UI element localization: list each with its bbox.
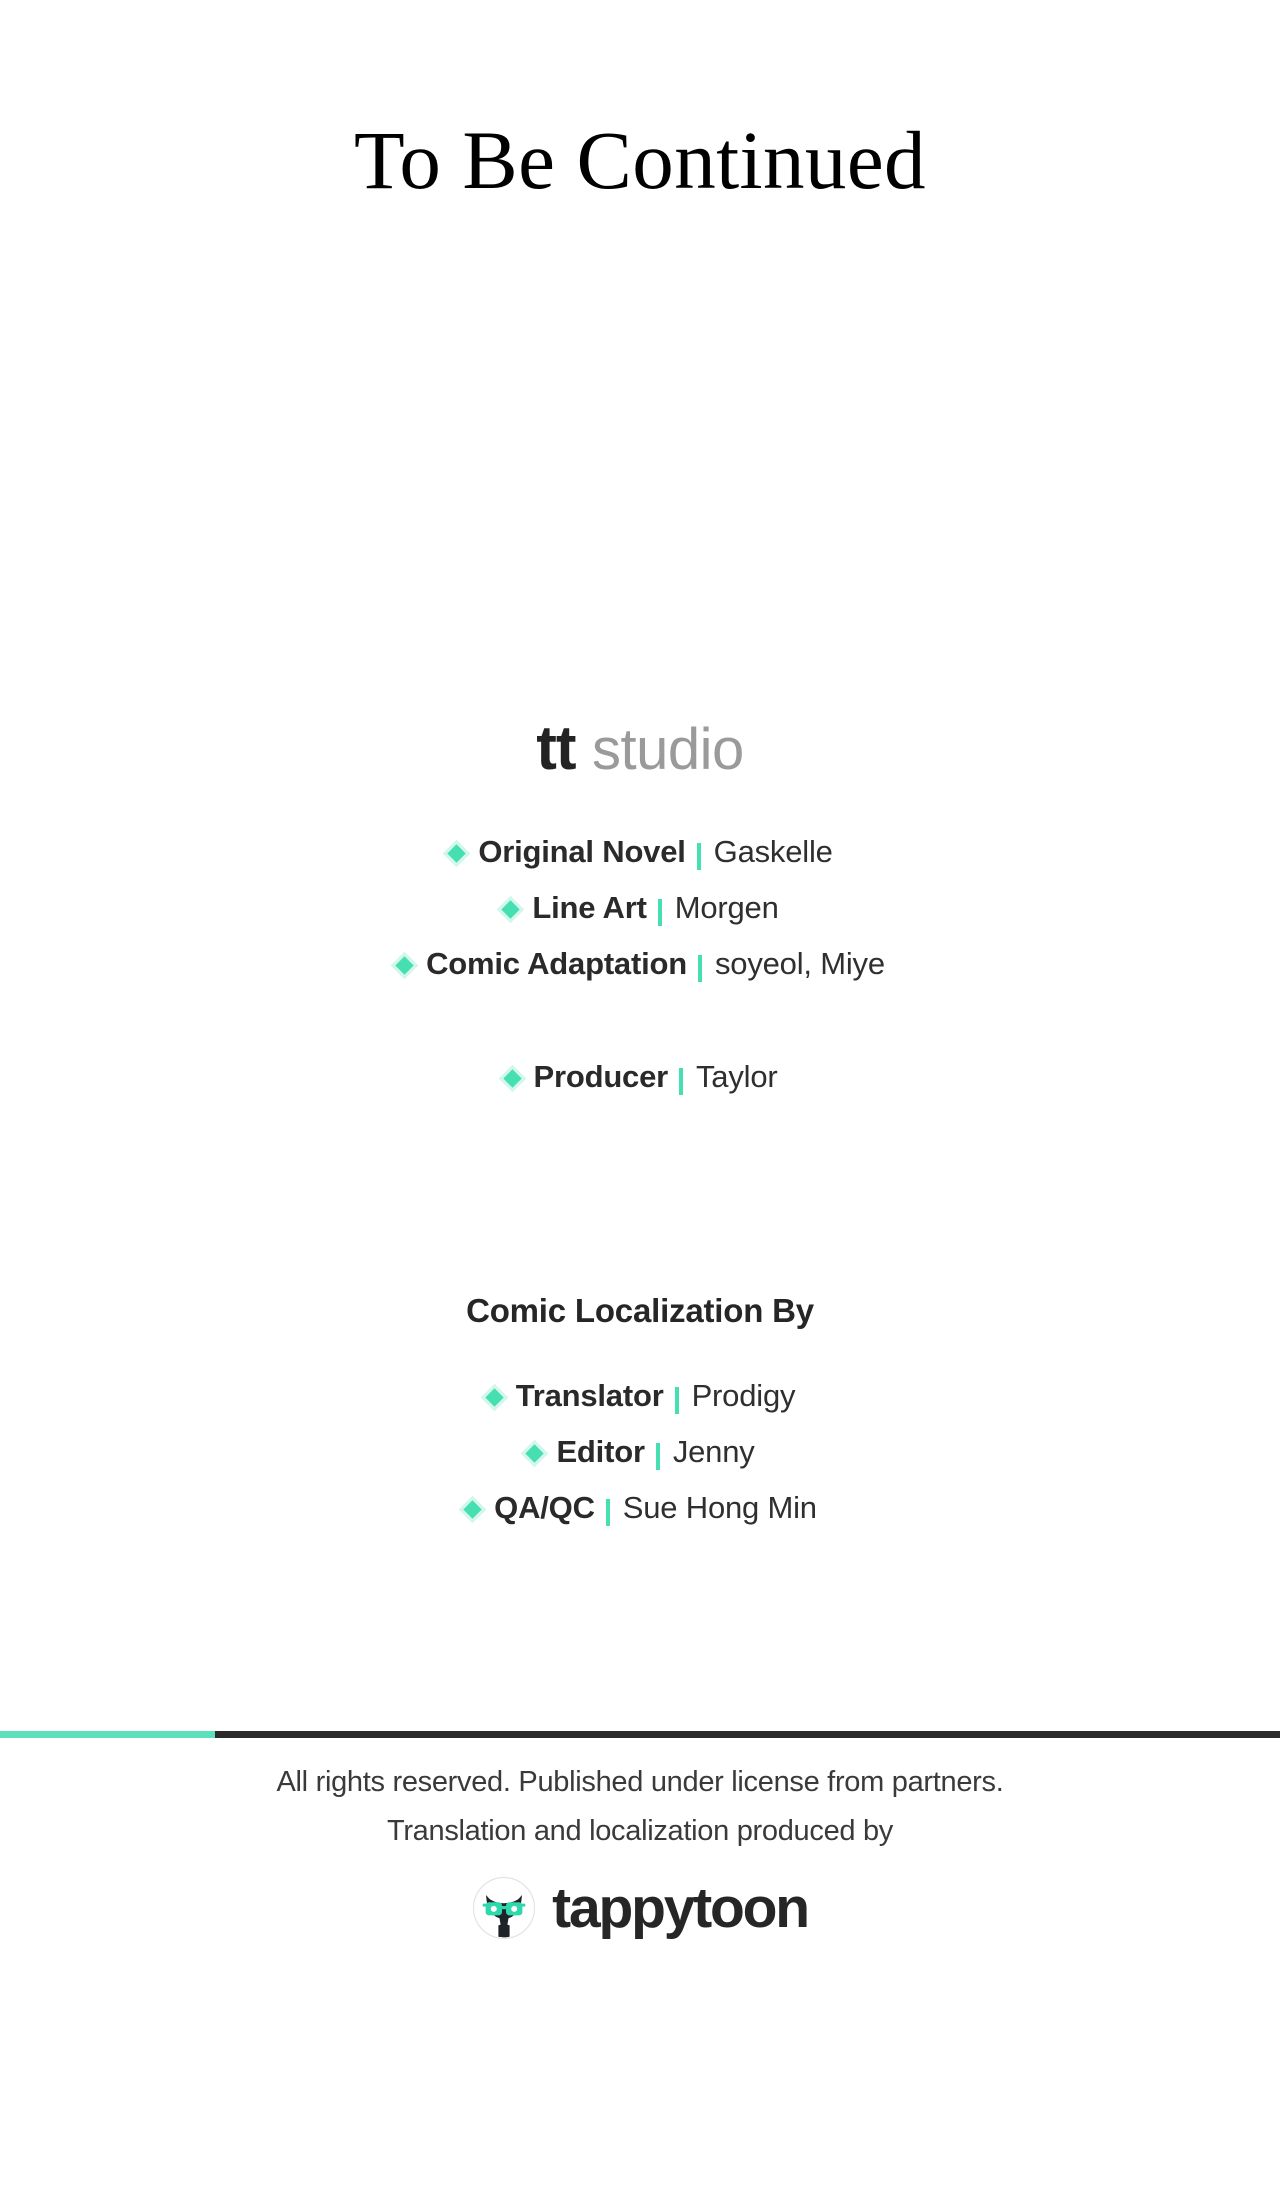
footer-legal-text: All rights reserved. Published under lic… (0, 1758, 1280, 1856)
credit-separator-icon (658, 899, 662, 926)
credit-role: Original Novel (478, 834, 685, 870)
credit-row: Comic Adaptation soyeol, Miye (0, 936, 1280, 992)
footer-divider-accent-segment (0, 1731, 215, 1738)
credit-separator-icon (698, 955, 702, 982)
localization-heading: Comic Localization By (0, 1292, 1280, 1330)
credit-role: Producer (534, 1059, 669, 1095)
footer-divider (0, 1731, 1280, 1738)
credit-person: Gaskelle (714, 834, 833, 870)
diamond-icon (459, 1496, 486, 1523)
credit-separator-icon (656, 1443, 660, 1470)
credit-row: Original Novel Gaskelle (0, 824, 1280, 880)
diamond-icon (481, 1384, 508, 1411)
credit-person: Jenny (673, 1434, 755, 1470)
credit-role: Comic Adaptation (426, 946, 687, 982)
credit-separator-icon (697, 843, 701, 870)
production-credits-list: Original Novel Gaskelle Line Art Morgen … (0, 824, 1280, 992)
footer-localization-line: Translation and localization produced by (0, 1807, 1280, 1856)
localization-credits-list: Translator Prodigy Editor Jenny QA/QC Su… (0, 1368, 1280, 1536)
credit-separator-icon (675, 1387, 679, 1414)
credit-person: Sue Hong Min (623, 1490, 817, 1526)
footer-divider-dark-segment (215, 1731, 1280, 1738)
credit-person: Prodigy (692, 1378, 796, 1414)
credit-person: Morgen (675, 890, 779, 926)
footer-rights-line: All rights reserved. Published under lic… (0, 1758, 1280, 1807)
tappytoon-cat-icon (472, 1876, 536, 1940)
producer-credits-list: Producer Taylor (0, 1049, 1280, 1105)
studio-logo: tt studio (0, 713, 1280, 784)
diamond-icon (499, 1065, 526, 1092)
credit-role: Editor (556, 1434, 644, 1470)
credit-row: Translator Prodigy (0, 1368, 1280, 1424)
credit-separator-icon (606, 1499, 610, 1526)
end-card-banner: To Be Continued (0, 117, 1280, 204)
credit-person: soyeol, Miye (715, 946, 885, 982)
to-be-continued-title: To Be Continued (0, 117, 1280, 204)
tappytoon-logo[interactable]: tappytoon (0, 1876, 1280, 1940)
credit-row: QA/QC Sue Hong Min (0, 1480, 1280, 1536)
studio-logo-mark: tt (536, 714, 575, 783)
credit-role: Translator (516, 1378, 664, 1414)
studio-logo-word: studio (592, 717, 744, 782)
credit-row: Editor Jenny (0, 1424, 1280, 1480)
credit-person: Taylor (696, 1059, 778, 1095)
credit-row: Producer Taylor (0, 1049, 1280, 1105)
tappytoon-wordmark: tappytoon (552, 1876, 808, 1940)
credit-row: Line Art Morgen (0, 880, 1280, 936)
credit-role: Line Art (532, 890, 646, 926)
credit-separator-icon (679, 1068, 683, 1095)
diamond-icon (443, 840, 470, 867)
diamond-icon (497, 896, 524, 923)
diamond-icon (391, 952, 418, 979)
credit-role: QA/QC (494, 1490, 595, 1526)
diamond-icon (522, 1440, 549, 1467)
